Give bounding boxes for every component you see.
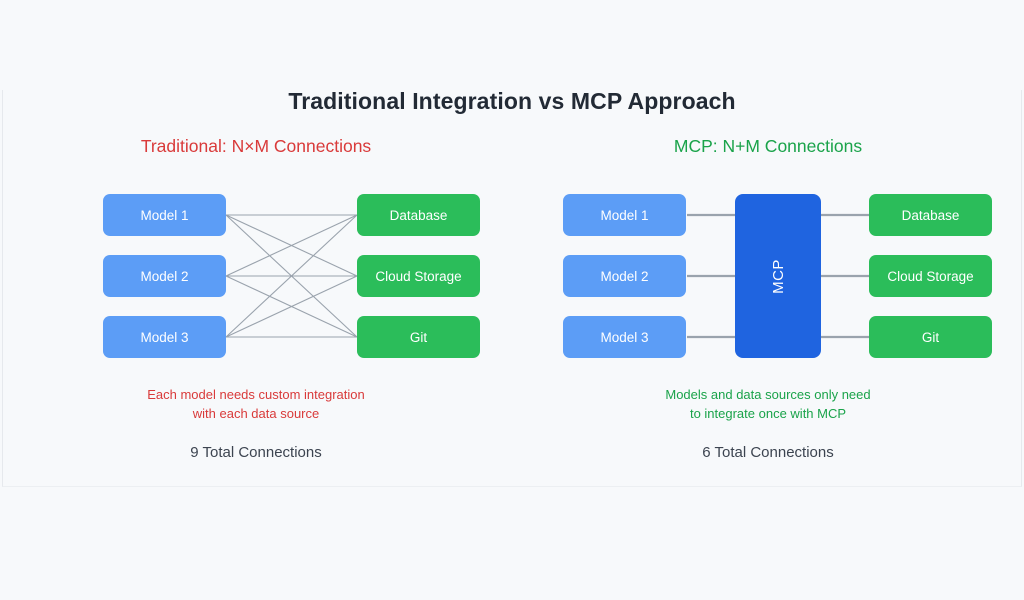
slide-canvas: Traditional Integration vs MCP Approach … xyxy=(0,0,1024,600)
node-label: Git xyxy=(922,330,939,345)
caption-line-2: with each data source xyxy=(46,404,466,423)
node-cloud-storage-mcp[interactable]: Cloud Storage xyxy=(869,255,992,297)
node-label: Database xyxy=(902,208,960,223)
node-label: Model 1 xyxy=(140,208,188,223)
node-database-mcp[interactable]: Database xyxy=(869,194,992,236)
node-label: Model 3 xyxy=(600,330,648,345)
node-label: Git xyxy=(410,330,427,345)
caption-line-1: Models and data sources only need xyxy=(558,385,978,404)
node-model-3-mcp[interactable]: Model 3 xyxy=(563,316,686,358)
node-git-traditional[interactable]: Git xyxy=(357,316,480,358)
node-model-2-mcp[interactable]: Model 2 xyxy=(563,255,686,297)
caption-traditional: Each model needs custom integration with… xyxy=(46,385,466,423)
node-git-mcp[interactable]: Git xyxy=(869,316,992,358)
node-model-2-traditional[interactable]: Model 2 xyxy=(103,255,226,297)
node-label: Cloud Storage xyxy=(887,269,973,284)
node-model-1-traditional[interactable]: Model 1 xyxy=(103,194,226,236)
caption-line-2: to integrate once with MCP xyxy=(558,404,978,423)
node-label: MCP xyxy=(770,259,787,294)
node-label: Model 2 xyxy=(140,269,188,284)
node-label: Cloud Storage xyxy=(375,269,461,284)
node-database-traditional[interactable]: Database xyxy=(357,194,480,236)
node-label: Model 1 xyxy=(600,208,648,223)
node-model-1-mcp[interactable]: Model 1 xyxy=(563,194,686,236)
page-title: Traditional Integration vs MCP Approach xyxy=(0,88,1024,115)
traditional-mesh-links xyxy=(226,215,357,337)
panel-heading-traditional: Traditional: N×M Connections xyxy=(46,136,466,157)
node-label: Model 3 xyxy=(140,330,188,345)
panel-heading-mcp: MCP: N+M Connections xyxy=(558,136,978,157)
caption-mcp: Models and data sources only need to int… xyxy=(558,385,978,423)
total-connections-mcp: 6 Total Connections xyxy=(558,444,978,461)
node-model-3-traditional[interactable]: Model 3 xyxy=(103,316,226,358)
caption-line-1: Each model needs custom integration xyxy=(46,385,466,404)
node-mcp-hub[interactable]: MCP xyxy=(735,194,821,358)
total-connections-traditional: 9 Total Connections xyxy=(46,444,466,461)
node-cloud-storage-traditional[interactable]: Cloud Storage xyxy=(357,255,480,297)
node-label: Database xyxy=(390,208,448,223)
node-label: Model 2 xyxy=(600,269,648,284)
